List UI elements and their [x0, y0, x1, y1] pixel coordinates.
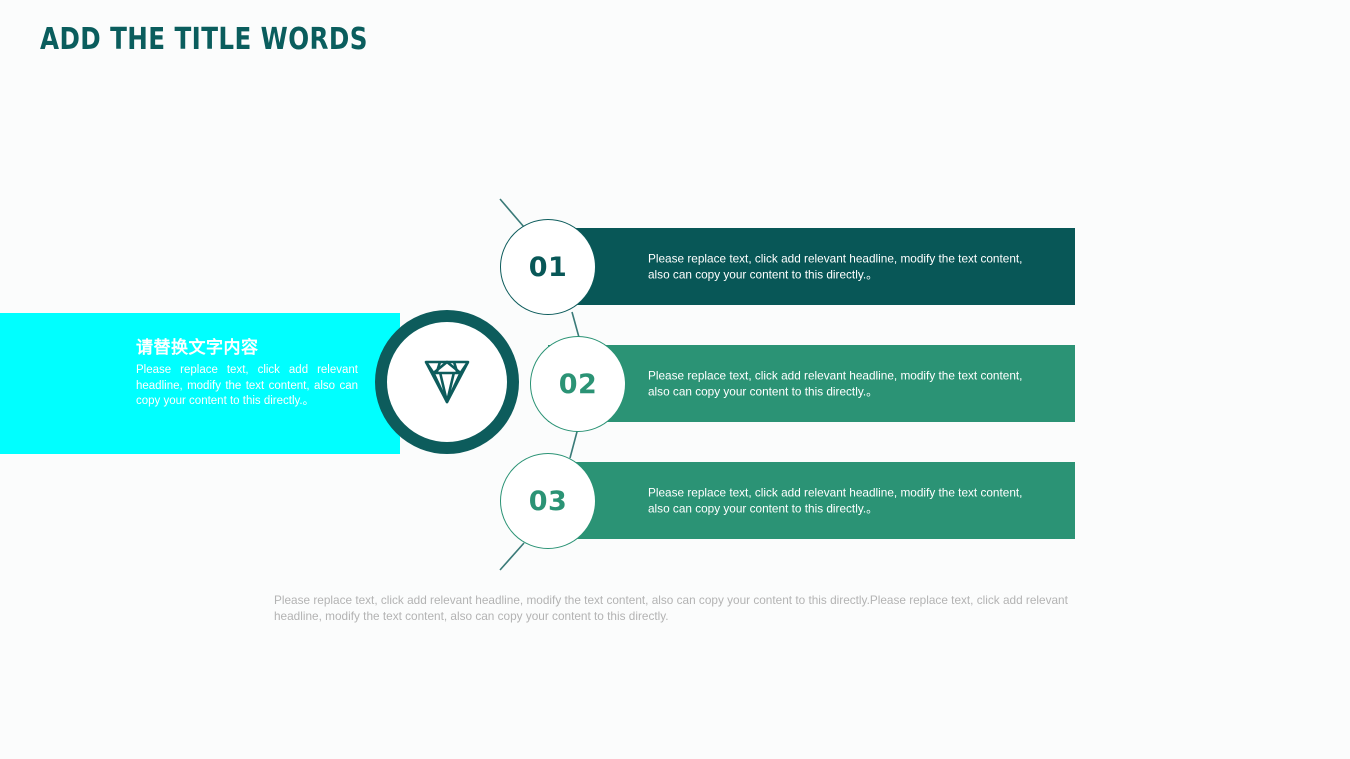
center-icon-circle — [375, 310, 519, 454]
step-bar-3: Please replace text, click add relevant … — [548, 462, 1075, 539]
step-bar-1: Please replace text, click add relevant … — [548, 228, 1075, 305]
connector-line-bottom — [500, 543, 524, 570]
left-info-panel: 请替换文字内容 Please replace text, click add r… — [0, 313, 400, 454]
step-number-circle-2: 02 — [530, 336, 626, 432]
step-bar-2-text: Please replace text, click add relevant … — [648, 367, 1023, 400]
step-bar-1-text: Please replace text, click add relevant … — [648, 250, 1023, 283]
left-panel-body: Please replace text, click add relevant … — [136, 363, 358, 410]
left-panel-heading: 请替换文字内容 — [136, 333, 259, 358]
diamond-icon — [415, 354, 479, 410]
step-bar-3-text: Please replace text, click add relevant … — [648, 484, 1023, 517]
connector-line-top — [500, 199, 524, 227]
step-bar-2: Please replace text, click add relevant … — [548, 345, 1075, 422]
connector-line-2-3 — [570, 428, 578, 458]
page-title: ADD THE TITLE WORDS — [40, 22, 368, 57]
slide-canvas: ADD THE TITLE WORDS 请替换文字内容 Please repla… — [0, 0, 1350, 759]
step-number-circle-1: 01 — [500, 219, 596, 315]
footer-caption: Please replace text, click add relevant … — [274, 593, 1069, 624]
step-number-circle-3: 03 — [500, 453, 596, 549]
